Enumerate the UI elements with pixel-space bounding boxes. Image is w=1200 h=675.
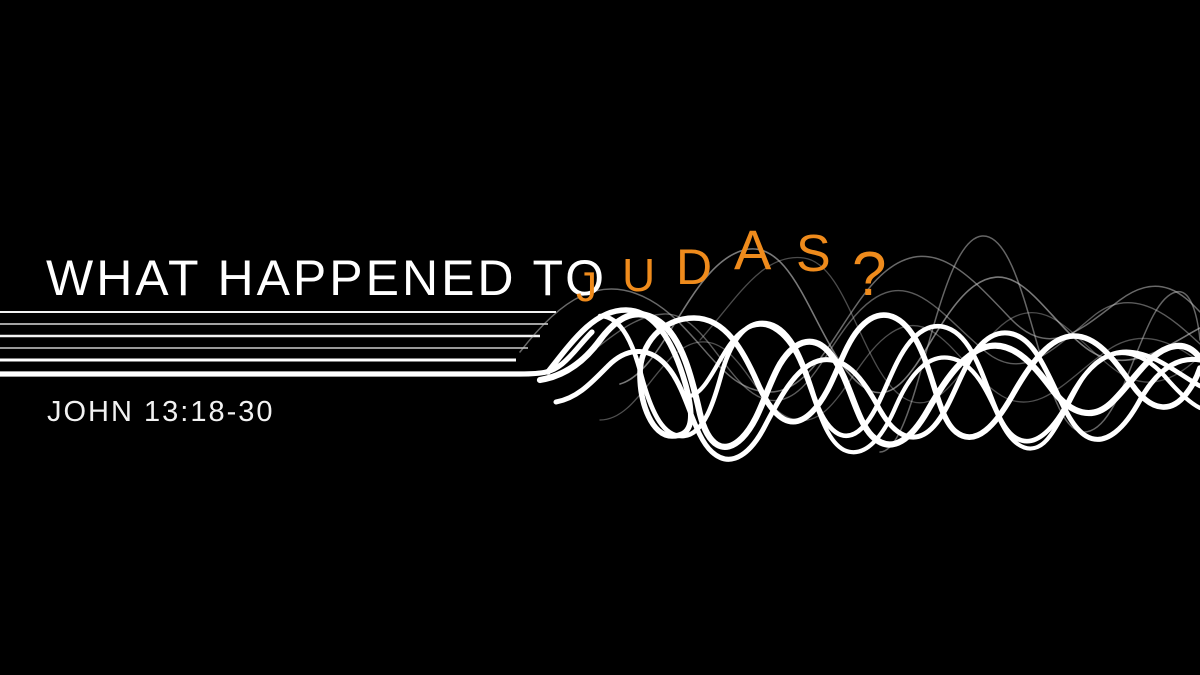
wave-faint [880,236,1200,452]
wave-faint [560,291,1200,401]
soundwave-graphic [0,0,1200,675]
slide-canvas: WHAT HAPPENED TO JUDAS? JOHN 13:18-30 [0,0,1200,675]
rule-line-bold-to-wave [0,332,592,374]
rule-line-group [0,312,556,360]
wave-bold [548,310,1200,437]
wave-bold-group [540,310,1200,459]
